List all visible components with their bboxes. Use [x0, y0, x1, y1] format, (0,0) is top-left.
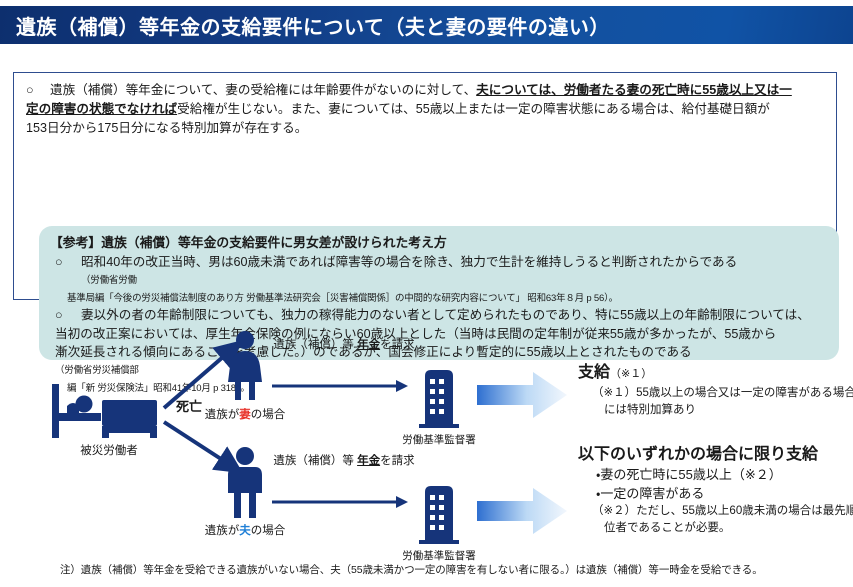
claim-line1: 遺族（補償）等: [273, 339, 354, 351]
footer-note: 注）遺族（補償）等年金を受給できる遺族がいない場合、夫（55歳未満かつ一定の障害…: [60, 562, 763, 577]
lower-claim-arrow: [272, 496, 408, 508]
bullet-marker: ○: [55, 253, 63, 272]
paragraph-line3: 153日分から175日分になる特別加算が存在する。: [26, 119, 826, 138]
claim-line2-bold: 年金: [357, 455, 380, 467]
lower-result-heading: 以下のいずれかの場合に限り支給: [578, 444, 853, 465]
result-heading-text: 支給: [578, 364, 610, 381]
upper-result-heading: 支給（※１）: [578, 362, 853, 385]
lower-office-label: 労働基準監督署: [374, 548, 504, 563]
result-bullet-2: ・一定の障害がある: [596, 484, 853, 503]
upper-office-label: 労働基準監督署: [374, 432, 504, 447]
label-suffix: の場合: [251, 525, 286, 537]
result-heading-note: （※１）: [610, 368, 652, 380]
lower-result-block: 以下のいずれかの場合に限り支給 ・妻の死亡時に55歳以上（※２） ・一定の障害が…: [578, 444, 853, 537]
page-title: 遺族（補償）等年金の支給要件について（夫と妻の要件の違い）: [0, 11, 610, 40]
upper-result-arrow: [477, 372, 567, 418]
male-figure-icon: [222, 446, 268, 518]
lower-claim-text: 遺族（補償）等 年金を請求: [264, 453, 424, 469]
lower-result-bullets: ・妻の死亡時に55歳以上（※２） ・一定の障害がある: [578, 465, 853, 503]
claim-line2-rest: を請求: [380, 455, 415, 467]
result-sub-line2: 位者であることが必要。: [592, 520, 853, 537]
upper-claim-text: 遺族（補償）等 年金を請求: [264, 337, 424, 353]
result-sub-line2: には特別加算あり: [592, 402, 853, 419]
paragraph-line2-bold: 定の障害の状態でなければ: [26, 102, 177, 116]
slide-title-bar: 遺族（補償）等年金の支給要件について（夫と妻の要件の違い）: [0, 6, 853, 44]
labor-office-building-icon: [415, 366, 463, 428]
main-paragraph: ○ 遺族（補償）等年金について、妻の受給権には年齢要件がないのに対して、夫につい…: [26, 81, 826, 138]
label-highlight-husband: 夫: [239, 525, 251, 537]
claim-line2-bold: 年金: [357, 339, 380, 351]
upper-claim-arrow: [272, 380, 408, 392]
paragraph-line1-bold: 夫については、労働者たる妻の死亡時に55歳以上又は一: [476, 83, 792, 97]
label-highlight-wife: 妻: [239, 409, 251, 421]
label-prefix: 遺族が: [205, 409, 240, 421]
result-sub-line1: （※２）ただし、55歳以上60歳未満の場合は最先順: [592, 503, 853, 520]
reference-heading: 【参考】遺族（補償）等年金の支給要件に男女差が設けられた考え方: [50, 232, 447, 251]
upper-result-block: 支給（※１） （※１）55歳以上の場合又は一定の障害がある場合 には特別加算あり: [578, 362, 853, 419]
labor-office-building-icon: [415, 482, 463, 544]
main-paragraph-text: 遺族（補償）等年金について、妻の受給権には年齢要件がないのに対して、夫については…: [26, 81, 826, 138]
flow-diagram: 被災労働者 死亡 遺族が妻の場合 遺族が夫の場合: [0, 310, 853, 555]
bullet-marker: ○: [26, 81, 34, 100]
claim-line1: 遺族（補償）等: [273, 455, 354, 467]
reference-item-1-line1: 昭和40年の改正当時、男は60歳未満であれば障害等の場合を除き、独力で生計を維持…: [81, 253, 831, 272]
result-sub-line1: （※１）55歳以上の場合又は一定の障害がある場合: [592, 385, 853, 402]
lower-result-sub: （※２）ただし、55歳以上60歳未満の場合は最先順 位者であることが必要。: [578, 503, 853, 537]
female-figure-icon: [222, 330, 268, 402]
label-prefix: 遺族が: [205, 525, 240, 537]
reference-item-1: ○ 昭和40年の改正当時、男は60歳未満であれば障害等の場合を除き、独力で生計を…: [55, 253, 831, 309]
upper-branch-figure-label: 遺族が妻の場合: [170, 406, 320, 422]
paragraph-line1-plain: 遺族（補償）等年金について、妻の受給権には年齢要件がないのに対して、: [50, 83, 476, 97]
injured-worker-bed-icon: [50, 378, 165, 440]
paragraph-line2-plain: 受給権が生じない。また、妻については、55歳以上または一定の障害状態にある場合は…: [177, 102, 770, 116]
claim-line2-rest: を請求: [380, 339, 415, 351]
upper-result-sub: （※１）55歳以上の場合又は一定の障害がある場合 には特別加算あり: [578, 385, 853, 419]
lower-branch-figure-label: 遺族が夫の場合: [170, 522, 320, 538]
lower-result-arrow: [477, 488, 567, 534]
result-bullet-1: ・妻の死亡時に55歳以上（※２）: [596, 465, 853, 484]
main-content-box: ○ 遺族（補償）等年金について、妻の受給権には年齢要件がないのに対して、夫につい…: [13, 72, 837, 300]
reference-item-1-source-inline: （労働省労働: [81, 272, 831, 291]
bed-label: 被災労働者: [44, 442, 174, 458]
label-suffix: の場合: [251, 409, 286, 421]
